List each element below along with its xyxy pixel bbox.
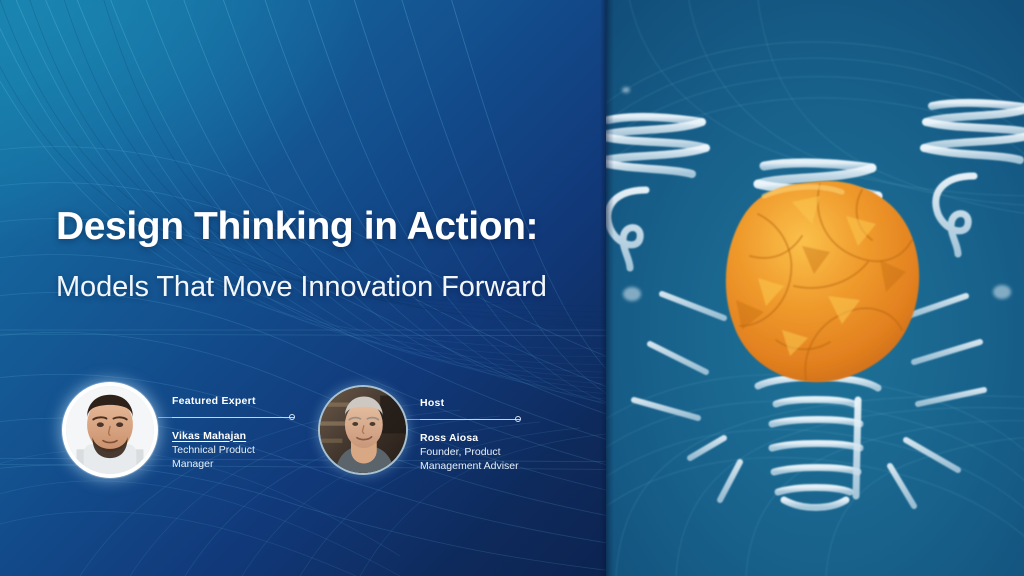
speaker-card-host: Host Ross Aiosa Founder, Product Managem… [318,385,520,475]
speaker-title-line-2: Manager [172,457,294,471]
speaker-card-featured-expert: Featured Expert Vikas Mahajan Technical … [62,382,294,478]
speaker-role-label: Featured Expert [172,396,294,408]
speaker-divider-rule [420,414,520,426]
speaker-role-label: Host [420,398,520,410]
avatar-ross-aiosa [318,385,408,475]
speaker-divider-rule [172,412,294,424]
speaker-name: Vikas Mahajan [172,429,294,443]
speaker-info-2: Host Ross Aiosa Founder, Product Managem… [420,385,520,473]
divider-line [172,417,294,418]
avatar-vikas-mahajan [62,382,158,478]
page-subtitle: Models That Move Innovation Forward [56,270,606,305]
left-content-panel: Design Thinking in Action: Models That M… [0,0,606,576]
divider-endpoint-dot [515,416,521,422]
divider-line [420,419,520,420]
divider-endpoint-dot [289,414,295,420]
lightbulb-artwork-panel [606,0,1024,576]
speaker-title-line-1: Founder, Product [420,445,520,459]
speaker-name: Ross Aiosa [420,431,520,445]
speaker-info-1: Featured Expert Vikas Mahajan Technical … [172,382,294,471]
speaker-title-line-1: Technical Product [172,443,294,457]
webinar-promo-banner: Design Thinking in Action: Models That M… [0,0,1024,576]
page-title: Design Thinking in Action: [56,206,596,248]
speaker-title-line-2: Management Adviser [420,459,520,473]
